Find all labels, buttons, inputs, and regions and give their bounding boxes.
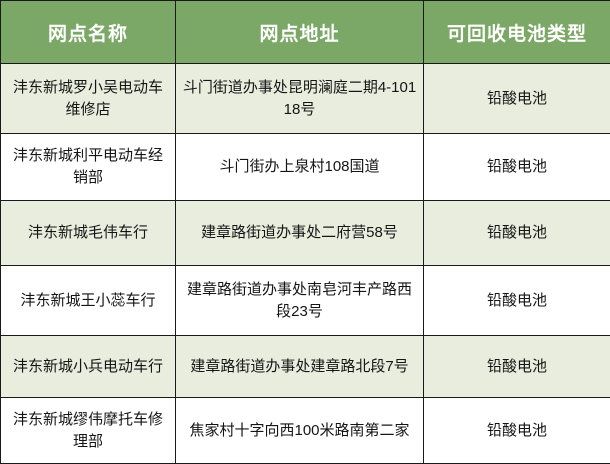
recycling-sites-table: 网点名称 网点地址 可回收电池类型 沣东新城罗小吴电动车维修店 斗门街道办事处昆… [0, 0, 610, 464]
table-row: 沣东新城王小蕊车行 建章路街道办事处南皂河丰产路西段23号 铅酸电池 [1, 266, 610, 336]
table-body: 沣东新城罗小吴电动车维修店 斗门街道办事处昆明澜庭二期4-10118号 铅酸电池… [1, 64, 610, 464]
recycling-sites-table-container: 网点名称 网点地址 可回收电池类型 沣东新城罗小吴电动车维修店 斗门街道办事处昆… [0, 0, 610, 463]
table-row: 沣东新城缪伟摩托车修理部 焦家村十字向西100米路南第二家 铅酸电池 [1, 398, 610, 464]
column-header-site-name: 网点名称 [1, 1, 176, 64]
cell-site-address: 建章路街道办事处南皂河丰产路西段23号 [176, 266, 424, 336]
table-header-row: 网点名称 网点地址 可回收电池类型 [1, 1, 610, 64]
cell-battery-type: 铅酸电池 [424, 64, 610, 134]
cell-site-address: 斗门街道办事处昆明澜庭二期4-10118号 [176, 64, 424, 134]
cell-battery-type: 铅酸电池 [424, 201, 610, 266]
cell-site-name: 沣东新城毛伟车行 [1, 201, 176, 266]
cell-site-name: 沣东新城缪伟摩托车修理部 [1, 398, 176, 464]
cell-site-name: 沣东新城利平电动车经销部 [1, 134, 176, 201]
column-header-battery-type: 可回收电池类型 [424, 1, 610, 64]
table-row: 沣东新城利平电动车经销部 斗门街办上泉村108国道 铅酸电池 [1, 134, 610, 201]
cell-site-address: 建章路街道办事处建章路北段7号 [176, 336, 424, 398]
table-row: 沣东新城小兵电动车行 建章路街道办事处建章路北段7号 铅酸电池 [1, 336, 610, 398]
cell-site-name: 沣东新城王小蕊车行 [1, 266, 176, 336]
cell-site-address: 建章路街道办事处二府营58号 [176, 201, 424, 266]
cell-battery-type: 铅酸电池 [424, 266, 610, 336]
table-row: 沣东新城毛伟车行 建章路街道办事处二府营58号 铅酸电池 [1, 201, 610, 266]
cell-site-address: 斗门街办上泉村108国道 [176, 134, 424, 201]
table-row: 沣东新城罗小吴电动车维修店 斗门街道办事处昆明澜庭二期4-10118号 铅酸电池 [1, 64, 610, 134]
cell-battery-type: 铅酸电池 [424, 398, 610, 464]
cell-battery-type: 铅酸电池 [424, 134, 610, 201]
cell-battery-type: 铅酸电池 [424, 336, 610, 398]
column-header-site-address: 网点地址 [176, 1, 424, 64]
cell-site-name: 沣东新城小兵电动车行 [1, 336, 176, 398]
cell-site-address: 焦家村十字向西100米路南第二家 [176, 398, 424, 464]
cell-site-name: 沣东新城罗小吴电动车维修店 [1, 64, 176, 134]
table-header: 网点名称 网点地址 可回收电池类型 [1, 1, 610, 64]
